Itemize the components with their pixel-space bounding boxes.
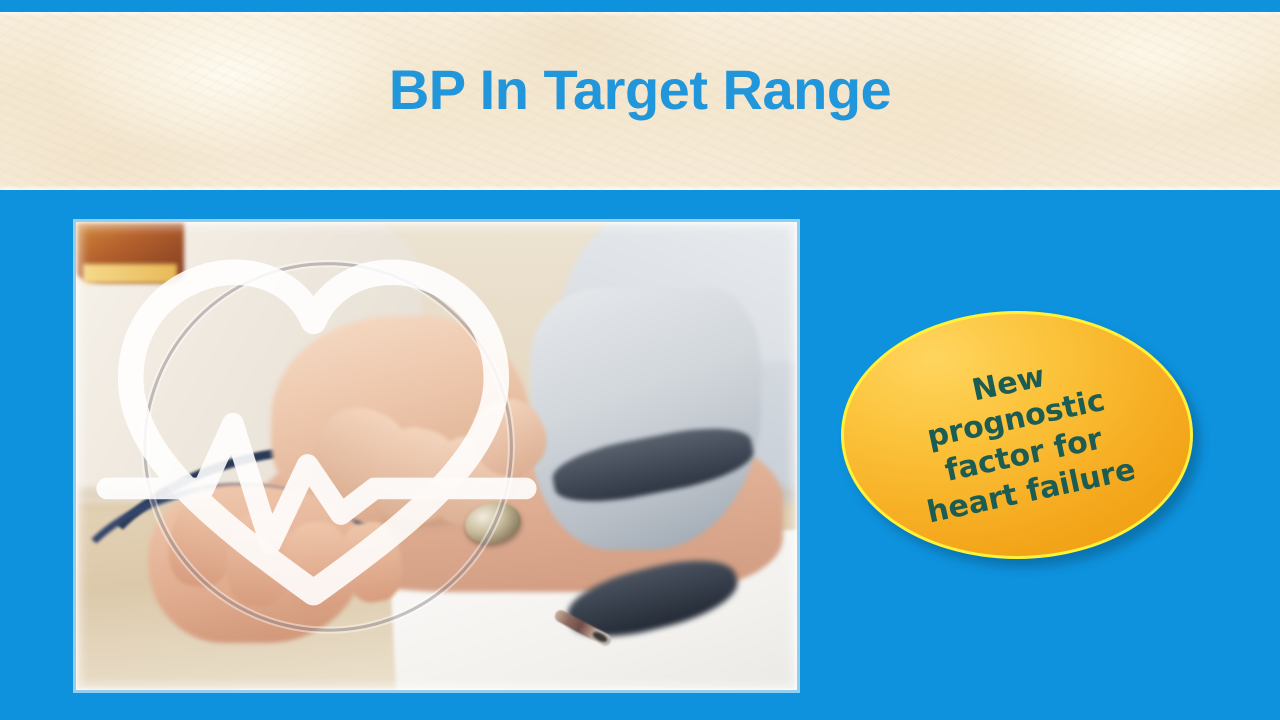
photo-frame bbox=[76, 222, 797, 690]
callout-badge-text-wrapper: New prognostic factor for heart failure bbox=[822, 280, 1218, 596]
photo-device-band bbox=[83, 264, 177, 283]
top-accent-strip bbox=[0, 0, 1280, 12]
callout-badge: New prognostic factor for heart failure bbox=[841, 311, 1193, 559]
photo-patient-finger bbox=[283, 520, 352, 612]
header-band-bottom-highlight bbox=[0, 185, 1280, 190]
slide-canvas: BP In Target Range bbox=[0, 0, 1280, 720]
callout-badge-label: New prognostic factor for heart failure bbox=[883, 340, 1158, 535]
page-title: BP In Target Range bbox=[0, 62, 1280, 118]
header-band-top-highlight bbox=[0, 12, 1280, 16]
photo-bp-cuff bbox=[530, 288, 761, 550]
blood-pressure-photo bbox=[76, 222, 797, 690]
